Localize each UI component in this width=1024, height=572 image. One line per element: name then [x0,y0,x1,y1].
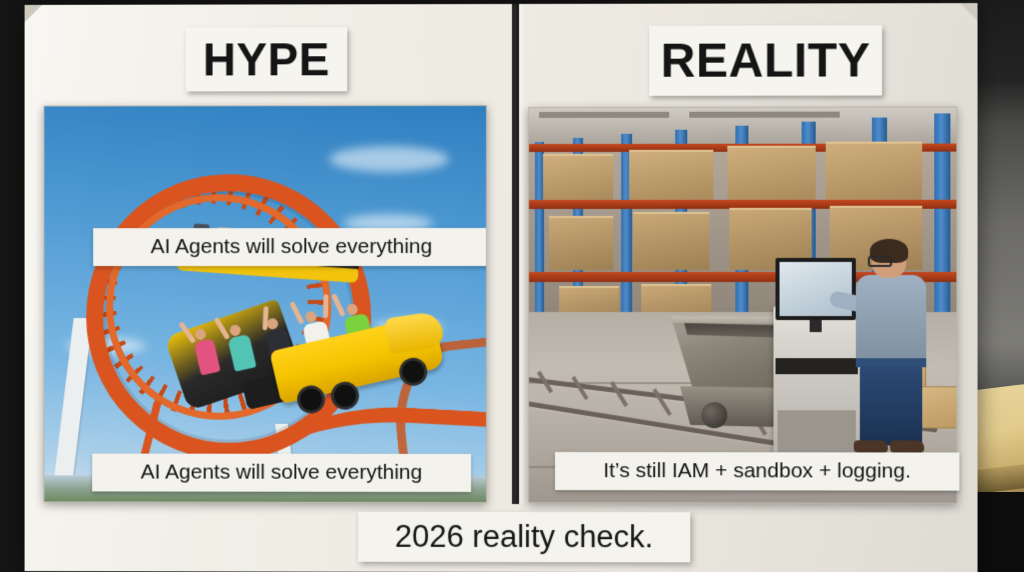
kiosk-base-cabinet [778,410,856,452]
screenshot-stage: HYPE [0,0,1024,572]
panel-divider [512,4,519,504]
caption-hype-bottom: AI Agents will solve everything [92,454,471,492]
cart-wheel [701,402,727,428]
cloud-icon [329,146,449,172]
panel-divider-highlight [519,4,523,504]
rider-arm-raised [323,294,328,318]
pallet-load [629,150,713,200]
glasses-icon [868,256,892,267]
warehouse-worker [846,242,932,455]
caption-reality-bottom: It’s still IAM + sandbox + logging. [555,452,959,491]
photo-roller-coaster: AI Agents will solve everything [43,105,487,503]
rider-arm-raised [289,301,304,325]
worker-shoe [854,440,888,452]
heading-reality: REALITY [649,25,882,95]
photo-warehouse-cart: It’s still IAM + sandbox + logging. [528,106,957,503]
pallet-load [549,216,613,270]
ceiling-beam [689,112,840,118]
worker-shoe [890,440,924,452]
monitor-stand [810,318,822,332]
monitor [776,258,856,320]
heading-hype: HYPE [186,27,347,91]
worker-legs [860,365,922,445]
caption-hype-top: AI Agents will solve everything [93,228,487,266]
bottom-banner: 2026 reality check. [358,512,690,563]
pallet-load [727,146,815,200]
ceiling-beam [539,112,669,118]
worker-torso [856,275,926,363]
pallet-load [826,142,922,200]
board-corner-top-right [959,3,977,21]
poster-board: HYPE [25,3,978,572]
pallet-load [543,154,613,200]
pallet-load [633,212,709,270]
rider-arm-raised [331,293,346,317]
board-corner-top-left [25,5,43,23]
